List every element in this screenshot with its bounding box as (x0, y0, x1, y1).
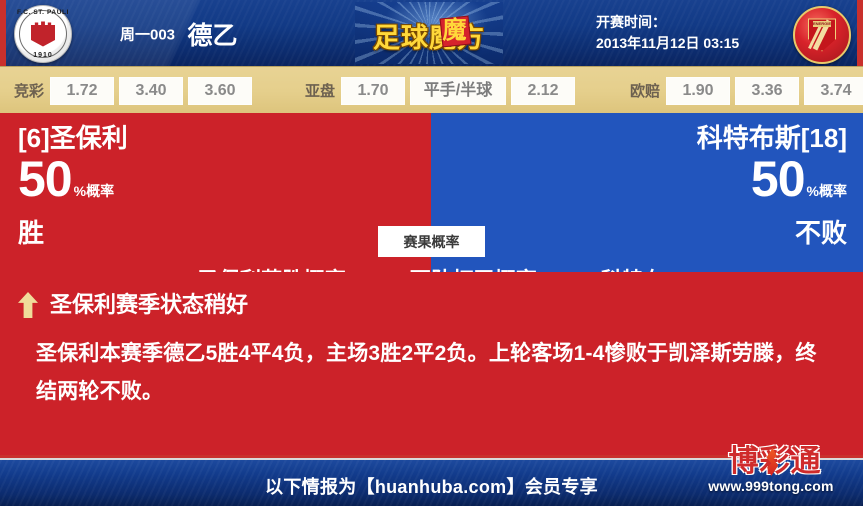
odds-group-asian: 亚盘 1.70 平手/半球 2.12 (305, 67, 580, 114)
away-probability-block: 科特布斯[18] 50%概率 不败 (697, 121, 847, 250)
away-probability-row: 50%概率 (697, 155, 847, 216)
analysis-title: 圣保利赛季状态稍好 (50, 292, 248, 318)
analysis-heading: 圣保利赛季状态稍好 (18, 292, 248, 318)
odds-group-label: 欧赔 (630, 80, 660, 101)
odds-cell[interactable]: 3.60 (188, 77, 252, 105)
home-probability-row: 50%概率 (18, 155, 128, 216)
home-probability-value: 50 (18, 151, 72, 207)
probability-section: [6]圣保利 50%概率 胜 科特布斯[18] 50%概率 不败 赛果概率 圣保… (0, 113, 863, 272)
odds-group-european: 欧赔 1.90 3.36 3.74 (630, 67, 863, 114)
home-badge-top-text: F.C. ST. PAULI (15, 9, 71, 16)
away-team-name: 科特布斯[18] (697, 121, 847, 155)
brand-mark-glyph: 魔 (441, 17, 468, 44)
odds-cell[interactable]: 1.70 (341, 77, 405, 105)
analysis-section: 圣保利赛季状态稍好 圣保利本赛季德乙5胜4平4负，主场3胜2平2负。上轮客场1-… (0, 272, 863, 455)
odds-group-label: 亚盘 (305, 80, 335, 101)
match-preview-card: F.C. ST. PAULI 1910 周一003 德乙 足球魔方 魔 开赛时间… (0, 0, 863, 506)
kickoff-info: 开赛时间： 2013年11月12日 03:15 (596, 12, 739, 54)
home-badge-bottom-text: 1910 (15, 52, 71, 59)
odds-cell[interactable]: 1.72 (50, 77, 114, 105)
odds-cell[interactable]: 3.36 (735, 77, 799, 105)
odds-cell-handicap[interactable]: 平手/半球 (410, 77, 506, 105)
brand-text: 足球魔方 (355, 16, 503, 55)
watermark: 博彩通 www.999tong.com (687, 444, 855, 500)
match-number: 周一003 (120, 27, 175, 44)
home-team-badge-icon: F.C. ST. PAULI 1910 (14, 5, 72, 63)
header-bar: F.C. ST. PAULI 1910 周一003 德乙 足球魔方 魔 开赛时间… (0, 0, 863, 66)
arrow-up-icon (18, 292, 38, 318)
odds-cell[interactable]: 3.40 (119, 77, 183, 105)
away-team-badge-icon: ENERGIE (793, 6, 851, 64)
away-probability-value: 50 (751, 151, 805, 207)
away-badge-cap-text: ENERGIE (813, 21, 831, 27)
odds-cell[interactable]: 3.74 (804, 77, 863, 105)
header-left-edge (0, 0, 6, 66)
home-probability-block: [6]圣保利 50%概率 胜 (18, 121, 128, 250)
home-probability-result: 胜 (18, 216, 128, 250)
odds-group-jingcai: 竞彩 1.72 3.40 3.60 (14, 67, 257, 114)
watermark-url: www.999tong.com (687, 478, 855, 494)
match-heading: 周一003 德乙 (120, 16, 238, 52)
brand-logo: 足球魔方 魔 (355, 2, 503, 64)
odds-bar: 竞彩 1.72 3.40 3.60 亚盘 1.70 平手/半球 2.12 欧赔 … (0, 66, 863, 115)
league-name: 德乙 (187, 22, 237, 50)
analysis-body: 圣保利本赛季德乙5胜4平4负，主场3胜2平2负。上轮客场1-4惨败于凯泽斯劳滕，… (36, 335, 836, 411)
kickoff-value: 2013年11月12日 03:15 (596, 33, 739, 54)
odds-group-label: 竞彩 (14, 80, 44, 101)
home-probability-unit: %概率 (74, 183, 114, 199)
away-probability-unit: %概率 (807, 183, 847, 199)
kickoff-label: 开赛时间： (596, 12, 739, 33)
odds-cell[interactable]: 1.90 (666, 77, 730, 105)
odds-cell[interactable]: 2.12 (511, 77, 575, 105)
away-probability-result: 不败 (697, 216, 847, 250)
home-team-name: [6]圣保利 (18, 121, 128, 155)
probability-tag-badge: 赛果概率 (378, 226, 485, 257)
header-right-edge (857, 0, 863, 66)
